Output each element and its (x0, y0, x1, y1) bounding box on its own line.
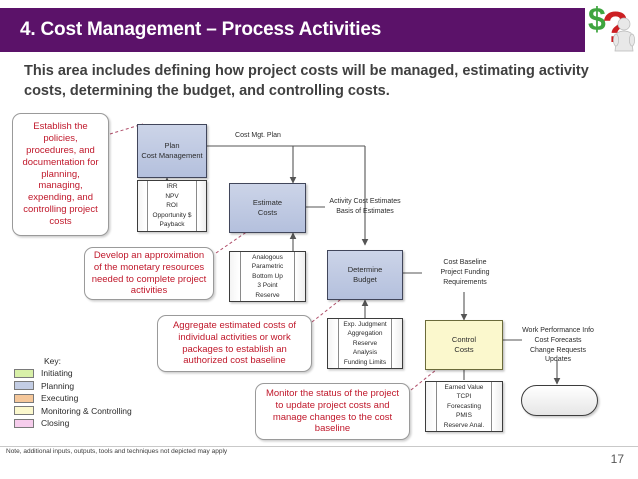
legend-label: Planning (41, 381, 74, 391)
tools-box-estimate-costs: Analogous Parametric Bottom Up 3 Point R… (229, 251, 306, 302)
legend-label: Monitoring & Controlling (41, 406, 132, 416)
legend-swatch-initiating (14, 369, 34, 378)
footer-note: Note, additional inputs, outputs, tools … (6, 448, 227, 455)
process-box-label: Plan Cost Management (141, 141, 202, 161)
legend-item-monitoring-controlling: Monitoring & Controlling (14, 405, 132, 418)
process-box-estimate-costs[interactable]: Estimate Costs (229, 183, 306, 233)
tools-box-label: Analogous Parametric Bottom Up 3 Point R… (252, 253, 283, 300)
tools-box-label: Exp. Judgment Aggregation Reserve Analys… (343, 320, 386, 367)
legend-item-initiating: Initiating (14, 367, 132, 380)
legend-item-planning: Planning (14, 380, 132, 393)
page-number: 17 (611, 452, 624, 466)
footer-divider (0, 446, 638, 447)
tools-box-label: Earned Value TCPI Forecasting PMIS Reser… (444, 383, 484, 430)
flow-label-cost-mgt-plan: Cost Mgt. Plan (226, 131, 290, 141)
process-box-determine-budget[interactable]: Determine Budget (327, 250, 403, 300)
process-box-label: Determine Budget (348, 265, 383, 285)
tools-box-plan-cost-management: IRR NPV ROI Opportunity $ Payback (137, 180, 207, 232)
flow-label-cost-baseline: Cost Baseline Project Funding Requiremen… (419, 258, 511, 287)
legend-swatch-planning (14, 381, 34, 390)
process-box-plan-cost-management[interactable]: Plan Cost Management (137, 124, 207, 178)
callout-plan-cost-management: Establish the policies, procedures, and … (12, 113, 109, 236)
callout-estimate-costs: Develop an approximation of the monetary… (84, 247, 214, 300)
flow-label-work-performance-info: Work Performance Info Cost Forecasts Cha… (505, 326, 611, 365)
legend-swatch-monitoring-controlling (14, 406, 34, 415)
legend-swatch-closing (14, 419, 34, 428)
process-box-label: Estimate Costs (253, 198, 282, 218)
legend-label: Closing (41, 418, 69, 428)
tools-box-control-costs: Earned Value TCPI Forecasting PMIS Reser… (425, 381, 503, 432)
legend-label: Executing (41, 393, 78, 403)
callout-determine-budget: Aggregate estimated costs of individual … (157, 315, 312, 372)
tools-box-determine-budget: Exp. Judgment Aggregation Reserve Analys… (327, 318, 403, 369)
flow-label-activity-cost-estimates: Activity Cost Estimates Basis of Estimat… (313, 197, 417, 217)
legend-swatch-executing (14, 394, 34, 403)
output-shape-control-costs (521, 385, 598, 416)
legend-label: Initiating (41, 368, 73, 378)
process-box-label: Control Costs (452, 335, 476, 355)
legend-item-closing: Closing (14, 417, 132, 430)
legend-item-executing: Executing (14, 392, 132, 405)
legend-title: Key: (44, 356, 132, 366)
legend-key: Key: Initiating Planning Executing Monit… (14, 356, 132, 430)
tools-box-label: IRR NPV ROI Opportunity $ Payback (152, 182, 191, 229)
process-box-control-costs[interactable]: Control Costs (425, 320, 503, 370)
callout-control-costs: Monitor the status of the project to upd… (255, 383, 410, 440)
